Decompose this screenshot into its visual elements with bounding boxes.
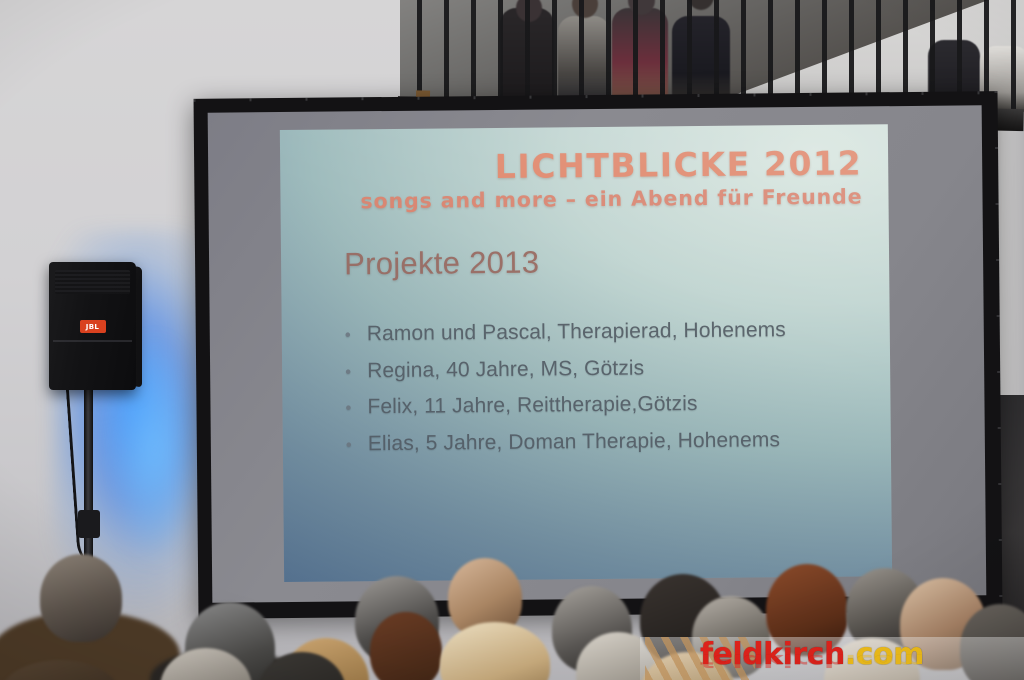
speaker-seam: [53, 340, 132, 342]
photo-scene: LICHTBLICKE 2012 songs and more – ein Ab…: [0, 0, 1024, 680]
slide-header-title: LICHTBLICKE 2012: [360, 146, 862, 186]
slide-header-subtitle: songs and more – ein Abend für Freunde: [360, 186, 862, 213]
audience-head: [440, 622, 550, 680]
audience-head: [40, 554, 122, 642]
jbl-logo-icon: JBL: [80, 320, 106, 333]
list-item-label: Regina, 40 Jahre, MS, Götzis: [367, 356, 644, 383]
jbl-logo-label: JBL: [86, 323, 100, 331]
speaker-grille: [55, 270, 130, 294]
bullet-glyph: •: [345, 399, 367, 416]
slide-header: LICHTBLICKE 2012 songs and more – ein Ab…: [360, 146, 863, 213]
audience-head: [370, 612, 442, 680]
presentation-slide: LICHTBLICKE 2012 songs and more – ein Ab…: [280, 124, 892, 582]
bullet-glyph: •: [345, 326, 367, 343]
watermark-reflection-name: feldkirch: [700, 650, 845, 669]
slide-title: Projekte 2013: [344, 245, 540, 283]
slide-bullet-list: • Ramon und Pascal, Therapierad, Hohenem…: [345, 317, 871, 468]
list-item: • Felix, 11 Jahre, Reittherapie,Götzis: [345, 390, 870, 419]
watermark-reflection-tld: .com: [845, 650, 924, 669]
jbl-speaker: JBL: [49, 262, 136, 390]
list-item: • Elias, 5 Jahre, Doman Therapie, Hohene…: [346, 427, 871, 456]
list-item-label: Ramon und Pascal, Therapierad, Hohenems: [367, 318, 786, 346]
list-item-label: Felix, 11 Jahre, Reittherapie,Götzis: [367, 392, 697, 419]
list-item: • Ramon und Pascal, Therapierad, Hohenem…: [345, 317, 870, 346]
bullet-glyph: •: [346, 436, 368, 453]
watermark-reflection: feldkirch.com: [700, 652, 924, 669]
bullet-glyph: •: [345, 363, 367, 380]
list-item: • Regina, 40 Jahre, MS, Götzis: [345, 354, 870, 383]
list-item-label: Elias, 5 Jahre, Doman Therapie, Hohenems: [368, 428, 780, 456]
